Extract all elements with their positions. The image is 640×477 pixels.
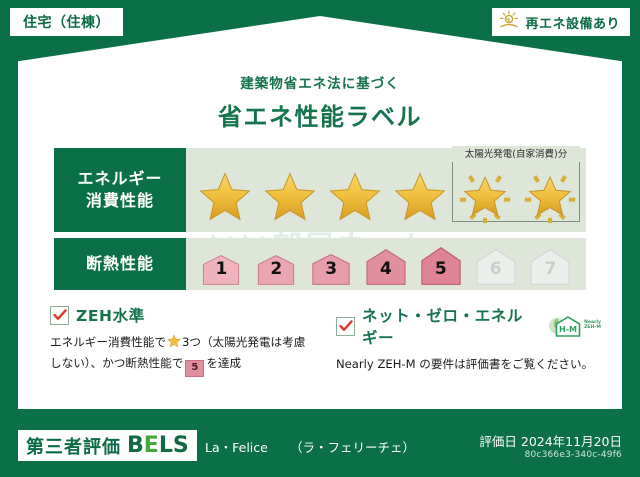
third-party-eval-label: 第三者評価 <box>26 433 121 459</box>
insulation-performance-row: 断熱性能 1 2 3 <box>54 238 586 290</box>
energy-label-root: 住宅（住棟） 再エネ設備あり いい部屋ネット 建築物省 <box>0 0 640 477</box>
footer-bar: 第三者評価 BELS La・Felice （ラ・フェリーチェ） 評価日 2024… <box>0 417 640 477</box>
label-title: 省エネ性能ラベル <box>40 97 600 132</box>
bels-chip: 第三者評価 BELS <box>18 430 197 461</box>
renewable-label: 再エネ設備あり <box>525 13 620 32</box>
zeh-criteria-title: ZEH水準 <box>76 304 145 326</box>
star-4 <box>390 167 450 227</box>
zeh-criteria-block: ZEH水準 エネルギー消費性能で3つ（太陽光発電は考慮しない）、かつ断熱性能で5… <box>50 304 315 377</box>
net-zero-criteria-header: ネット・ゼロ・エネルギー H-M Nearly ZEH-M <box>336 304 601 348</box>
star-2 <box>260 167 320 227</box>
star-1 <box>195 167 255 227</box>
star-5-solar <box>455 167 515 227</box>
zeh-m-logo-sub2: ZEH-M <box>584 326 601 331</box>
label-panel: いい部屋ネット 建築物省エネ法に基づく 省エネ性能ラベル エネルギー 消費性能 … <box>18 16 622 409</box>
net-zero-criteria-title: ネット・ゼロ・エネルギー <box>362 304 538 348</box>
zeh-m-logo: H-M Nearly ZEH-M <box>548 313 601 339</box>
insulation-grade-6: 6 <box>471 248 521 286</box>
insulation-performance-label: 断熱性能 <box>54 238 186 290</box>
grade-number: 4 <box>361 259 411 279</box>
insulation-grade-5: 5 <box>416 246 466 286</box>
solar-note-label: 太陽光発電(自家消費)分 <box>452 146 580 160</box>
energy-performance-label: エネルギー 消費性能 <box>54 148 186 232</box>
label-subtitle: 建築物省エネ法に基づく <box>40 72 600 92</box>
renewable-equipment-chip: 再エネ設備あり <box>492 8 630 36</box>
building-name: La・Felice <box>205 437 268 456</box>
svg-text:H-M: H-M <box>559 325 577 334</box>
energy-stars-area: 太陽光発電(自家消費)分 <box>186 148 586 232</box>
grade-number: 7 <box>525 259 575 279</box>
bels-logo: BELS <box>127 433 189 458</box>
insulation-grade-7: 7 <box>525 248 575 286</box>
insulation-grade-1: 1 <box>196 254 246 286</box>
zeh-criteria-text: エネルギー消費性能で3つ（太陽光発電は考慮しない）、かつ断熱性能で5を達成 <box>50 333 315 377</box>
net-zero-criteria-text: Nearly ZEH-M の要件は評価書をご覧ください。 <box>336 355 601 374</box>
star-rating <box>192 166 582 228</box>
grade-number: 6 <box>471 259 521 279</box>
insulation-grade-3: 3 <box>306 253 356 286</box>
red-check-icon <box>50 306 69 325</box>
title-block: 建築物省エネ法に基づく 省エネ性能ラベル <box>40 72 600 132</box>
insulation-grade-2: 2 <box>251 254 301 286</box>
evaluation-id: 80c366e3-340c-49f6 <box>525 450 622 460</box>
star-6-solar <box>520 167 580 227</box>
inline-grade-badge: 5 <box>185 360 204 377</box>
zeh-star-count-text: 3つ（太陽光発電 <box>182 335 271 349</box>
star-3 <box>325 167 385 227</box>
zeh-text-part3: を達成 <box>206 356 241 370</box>
insulation-grade-4: 4 <box>361 248 411 286</box>
grade-number: 5 <box>416 259 466 279</box>
grade-number: 1 <box>196 259 246 279</box>
zeh-criteria-header: ZEH水準 <box>50 304 315 326</box>
net-zero-criteria-block: ネット・ゼロ・エネルギー H-M Nearly ZEH-M <box>336 304 601 374</box>
grade-number: 3 <box>306 259 356 279</box>
zeh-text-part1: エネルギー消費性能で <box>50 335 166 349</box>
inline-star-icon <box>167 334 181 354</box>
grade-number: 2 <box>251 259 301 279</box>
red-check-icon <box>336 317 355 336</box>
evaluation-date: 評価日 2024年11月20日 <box>479 431 622 450</box>
building-type-chip: 住宅（住棟） <box>10 8 123 36</box>
insulation-grades-area: 1 2 3 4 <box>186 238 586 290</box>
insulation-grade-list: 1 2 3 4 <box>194 238 578 290</box>
solar-sun-icon <box>498 10 520 34</box>
energy-performance-row: エネルギー 消費性能 太陽光発電(自家消費)分 <box>54 148 586 232</box>
building-type-label: 住宅（住棟） <box>23 12 110 32</box>
building-name-kana: （ラ・フェリーチェ） <box>290 437 415 456</box>
